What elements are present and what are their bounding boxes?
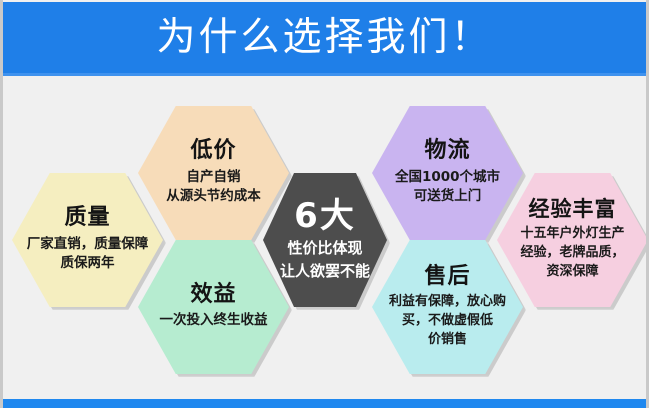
hexagon-line: 经验，老牌品质，	[520, 244, 624, 263]
hexagon-title: 经验丰富	[529, 198, 617, 221]
hexagon-line: 资深保障	[520, 263, 624, 282]
hexagon-title: 质量	[64, 206, 110, 230]
hexagon-title: 6大	[294, 198, 356, 235]
hexagon-title: 效益	[190, 283, 236, 307]
hexagon-experience: 经验丰富 十五年户外灯生产 经验，老牌品质， 资深保障	[497, 173, 648, 307]
hexagon-line: 可送货上门	[395, 187, 500, 207]
hexagon-description: 全国1000个城市 可送货上门	[395, 168, 500, 207]
hexagon-description: 利益有保障，放心购 买，不做虚假低 价销售	[389, 293, 506, 350]
hexagon-description: 自产自销 从源头节约成本	[166, 168, 261, 207]
page-title: 为什么选择我们！	[156, 18, 492, 57]
hexagon-line: 一次投入终生收益	[160, 311, 268, 331]
banner-underline	[0, 73, 649, 76]
hexagon-description: 一次投入终生收益	[160, 311, 268, 331]
hexagon-title: 售后	[424, 265, 470, 289]
header-banner: 为什么选择我们！	[0, 2, 649, 73]
hexagon-line: 让人欲罢不能	[280, 260, 370, 283]
hexagon-description: 性价比体现 让人欲罢不能	[280, 237, 370, 282]
hexagon-line: 性价比体现	[280, 237, 370, 260]
hexagon-core: 6大 性价比体现 让人欲罢不能	[263, 173, 387, 307]
hexagon-line: 买，不做虚假低	[389, 312, 506, 331]
hexagon-line: 利益有保障，放心购	[389, 293, 506, 312]
hexagon-description: 厂家直销，质量保障 质保两年	[27, 235, 149, 274]
hexagon-description: 十五年户外灯生产 经验，老牌品质， 资深保障	[520, 225, 624, 282]
bottom-bar	[0, 399, 649, 408]
hexagon-line: 全国1000个城市	[395, 168, 500, 188]
hexagon-line: 自产自销	[166, 168, 261, 188]
hexagon-line: 厂家直销，质量保障	[27, 235, 149, 255]
hexagon-line: 价销售	[389, 331, 506, 350]
hexagon-line: 从源头节约成本	[166, 187, 261, 207]
hexagon-line: 十五年户外灯生产	[520, 225, 624, 244]
hexagon-title: 物流	[424, 139, 470, 163]
hexagon-title: 低价	[190, 139, 236, 163]
promo-graphic: 为什么选择我们！ 质量 厂家直销，质量保障 质保两年 低价 自产自销 从源头节约…	[0, 0, 649, 408]
hexagon-line: 质保两年	[27, 254, 149, 274]
